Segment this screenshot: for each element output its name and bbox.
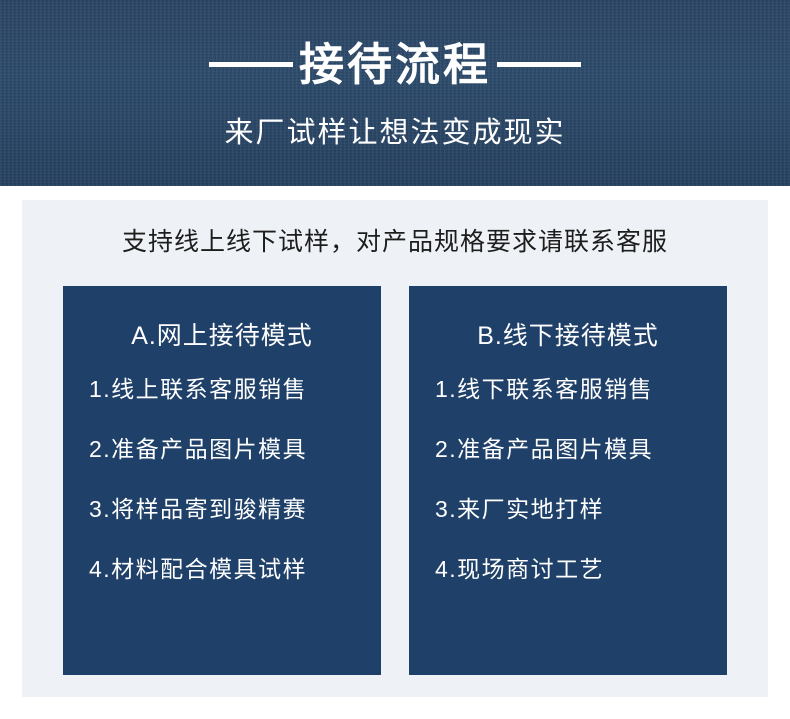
card-list: 1.线上联系客服销售 2.准备产品图片模具 3.将样品寄到骏精赛 4.材料配合模…	[63, 378, 381, 581]
page-title: 接待流程	[293, 42, 497, 87]
content-panel: 支持线上线下试样，对产品规格要求请联系客服 A.网上接待模式 1.线上联系客服销…	[22, 200, 768, 697]
title-rule-right	[497, 62, 581, 67]
header-banner: 接待流程 来厂试样让想法变成现实	[0, 0, 790, 186]
list-item: 2.准备产品图片模具	[89, 438, 381, 461]
promo-page: 接待流程 来厂试样让想法变成现实 支持线上线下试样，对产品规格要求请联系客服 A…	[0, 0, 790, 719]
panel-note: 支持线上线下试样，对产品规格要求请联系客服	[122, 222, 668, 258]
list-item: 1.线下联系客服销售	[435, 378, 727, 401]
card-title: B.线下接待模式	[477, 316, 659, 352]
card-list: 1.线下联系客服销售 2.准备产品图片模具 3.来厂实地打样 4.现场商讨工艺	[409, 378, 727, 581]
list-item: 4.现场商讨工艺	[435, 558, 727, 581]
list-item: 4.材料配合模具试样	[89, 558, 381, 581]
title-rule-left	[209, 62, 293, 67]
card-group: A.网上接待模式 1.线上联系客服销售 2.准备产品图片模具 3.将样品寄到骏精…	[63, 286, 727, 675]
list-item: 2.准备产品图片模具	[435, 438, 727, 461]
page-subtitle: 来厂试样让想法变成现实	[224, 109, 565, 151]
list-item: 3.来厂实地打样	[435, 498, 727, 521]
list-item: 1.线上联系客服销售	[89, 378, 381, 401]
body-wrapper: 支持线上线下试样，对产品规格要求请联系客服 A.网上接待模式 1.线上联系客服销…	[0, 186, 790, 719]
card-title: A.网上接待模式	[131, 316, 313, 352]
list-item: 3.将样品寄到骏精赛	[89, 498, 381, 521]
card-online: A.网上接待模式 1.线上联系客服销售 2.准备产品图片模具 3.将样品寄到骏精…	[63, 286, 381, 675]
header-title-row: 接待流程	[209, 42, 581, 87]
card-offline: B.线下接待模式 1.线下联系客服销售 2.准备产品图片模具 3.来厂实地打样 …	[409, 286, 727, 675]
